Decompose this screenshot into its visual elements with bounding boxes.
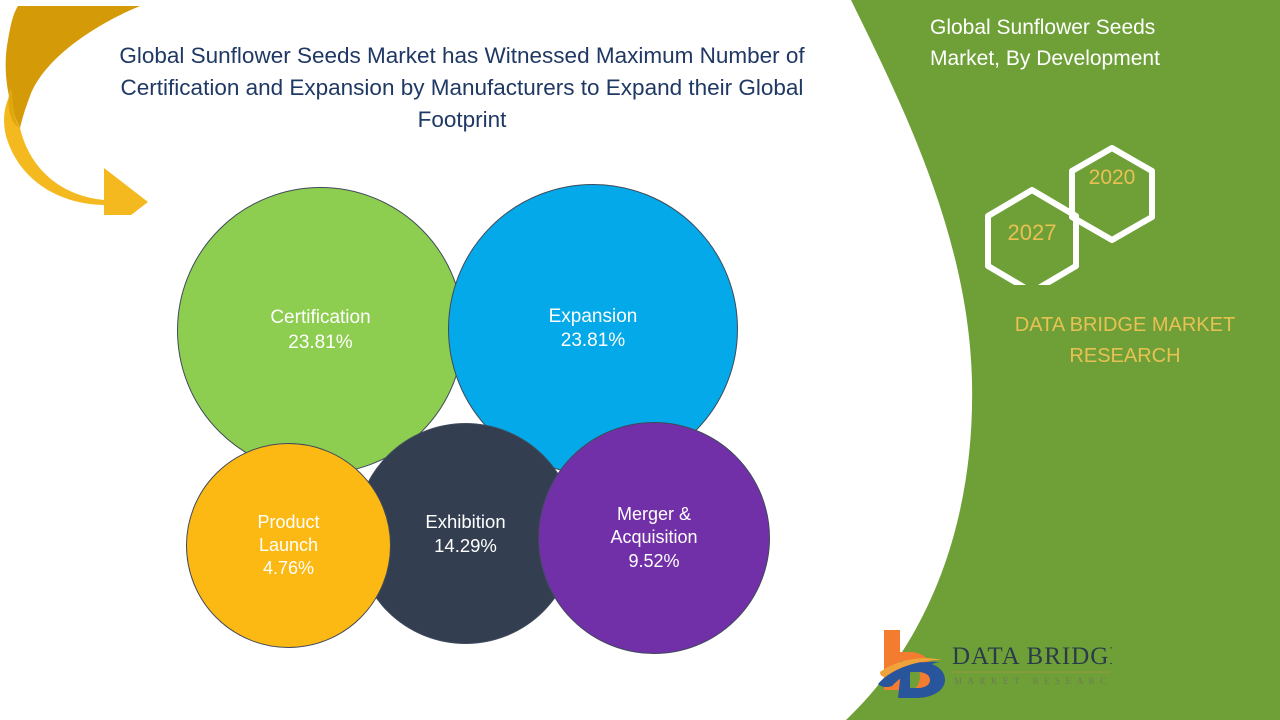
hexagon-outlines — [980, 140, 1190, 285]
bubble-expansion-label: Expansion — [549, 305, 638, 329]
infographic-canvas: Global Sunflower Seeds Market has Witnes… — [0, 0, 1280, 720]
bubble-merger-acquisition-label-2: Acquisition — [610, 526, 697, 549]
bubble-merger-acquisition-label-1: Merger & — [610, 503, 697, 526]
bubble-product-launch-label-1: Product — [257, 511, 319, 534]
bubble-product-launch-label-2: Launch — [257, 534, 319, 557]
bubble-merger-acquisition-text: Merger & Acquisition 9.52% — [600, 503, 707, 572]
bubble-merger-acquisition-value: 9.52% — [610, 550, 697, 573]
logo-wordmark: DATA BRIDGE — [952, 643, 1112, 670]
bubble-product-launch-text: Product Launch 4.76% — [247, 511, 329, 580]
hexagon-year-2027-label: 2027 — [990, 220, 1074, 246]
bubble-certification-text: Certification 23.81% — [260, 306, 380, 355]
data-bridge-logo[interactable]: DATA BRIDGE MARKET RESEARCH — [872, 622, 1112, 702]
panel-heading-line-2: Market, By Development — [930, 43, 1260, 74]
bubble-certification[interactable]: Certification 23.81% — [177, 187, 464, 474]
brand-name-line-2: RESEARCH — [975, 341, 1275, 372]
bubble-exhibition-label: Exhibition — [425, 510, 505, 534]
hexagon-year-group: 2020 2027 — [980, 140, 1190, 285]
bubble-exhibition-value: 14.29% — [425, 534, 505, 558]
brand-name-line-1: DATA BRIDGE MARKET — [975, 310, 1275, 341]
hexagon-year-2020-label: 2020 — [1072, 166, 1152, 190]
logo-tagline: MARKET RESEARCH — [954, 676, 1112, 686]
bubble-certification-label: Certification — [270, 306, 370, 330]
bubble-merger-acquisition[interactable]: Merger & Acquisition 9.52% — [538, 422, 770, 654]
brand-name: DATA BRIDGE MARKET RESEARCH — [975, 310, 1275, 372]
bubble-expansion-text: Expansion 23.81% — [539, 305, 648, 354]
bubble-product-launch-value: 4.76% — [257, 557, 319, 580]
bubble-product-launch[interactable]: Product Launch 4.76% — [186, 443, 391, 648]
data-bridge-logo-icon: DATA BRIDGE MARKET RESEARCH — [872, 622, 1112, 702]
hexagon-2020-outline — [1072, 148, 1152, 240]
bubble-chart: Certification 23.81% Expansion 23.81% Ex… — [0, 0, 860, 720]
bubble-expansion-value: 23.81% — [549, 329, 638, 353]
bubble-certification-value: 23.81% — [270, 331, 370, 355]
panel-heading-line-1: Global Sunflower Seeds — [930, 12, 1260, 43]
bubble-exhibition-text: Exhibition 14.29% — [415, 510, 515, 557]
panel-heading: Global Sunflower Seeds Market, By Develo… — [930, 12, 1260, 74]
